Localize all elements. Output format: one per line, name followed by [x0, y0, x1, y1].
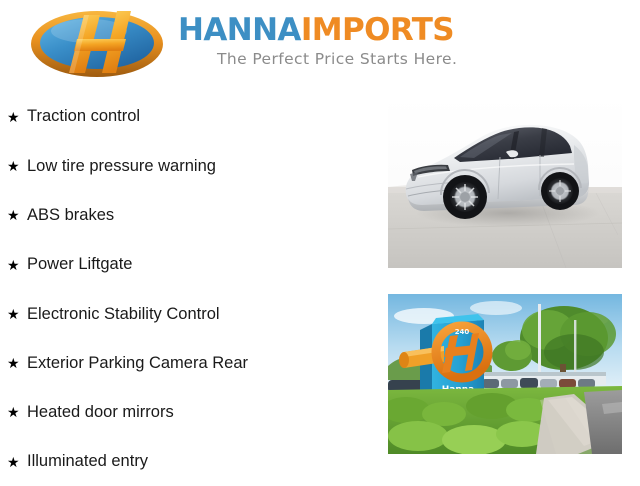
list-item: ★ Electronic Stability Control	[0, 289, 380, 338]
dealership-photo: 240 Hanna Imports	[388, 294, 622, 454]
list-item: ★ Low tire pressure warning	[0, 141, 380, 190]
wordmark-imports: IMPORTS	[301, 12, 454, 48]
list-item: ★ Traction control	[0, 92, 380, 141]
brand-tagline: The Perfect Price Starts Here.	[217, 50, 457, 68]
star-bullet-icon: ★	[7, 307, 20, 321]
list-item: ★ Illuminated entry	[0, 437, 380, 486]
star-bullet-icon: ★	[7, 159, 20, 173]
star-bullet-icon: ★	[7, 258, 20, 272]
feature-label: Power Liftgate	[27, 256, 132, 273]
list-item: ★ Heated door mirrors	[0, 388, 380, 437]
list-item: ★ Exterior Parking Camera Rear	[0, 338, 380, 387]
star-bullet-icon: ★	[7, 405, 20, 419]
star-bullet-icon: ★	[7, 356, 20, 370]
star-bullet-icon: ★	[7, 110, 20, 124]
feature-label: Low tire pressure warning	[27, 158, 216, 175]
brand-header: HANNAIMPORTS The Perfect Price Starts He…	[0, 0, 640, 88]
svg-text:240: 240	[455, 328, 470, 336]
list-item: ★ Power Liftgate	[0, 240, 380, 289]
brand-wordmark: HANNAIMPORTS	[178, 12, 518, 48]
list-item: ★ ABS brakes	[0, 191, 380, 240]
feature-list: ★ Traction control ★ Low tire pressure w…	[0, 92, 380, 486]
feature-label: Traction control	[27, 108, 140, 125]
feature-label: Exterior Parking Camera Rear	[27, 355, 248, 372]
wordmark-hanna: HANNA	[178, 12, 301, 48]
feature-label: ABS brakes	[27, 207, 114, 224]
star-bullet-icon: ★	[7, 208, 20, 222]
feature-label: Electronic Stability Control	[27, 306, 220, 323]
hanna-oval-h-emblem-icon	[27, 7, 167, 79]
vehicle-photo	[388, 95, 622, 268]
feature-label: Heated door mirrors	[27, 404, 174, 421]
star-bullet-icon: ★	[7, 455, 20, 469]
feature-label: Illuminated entry	[27, 453, 148, 470]
